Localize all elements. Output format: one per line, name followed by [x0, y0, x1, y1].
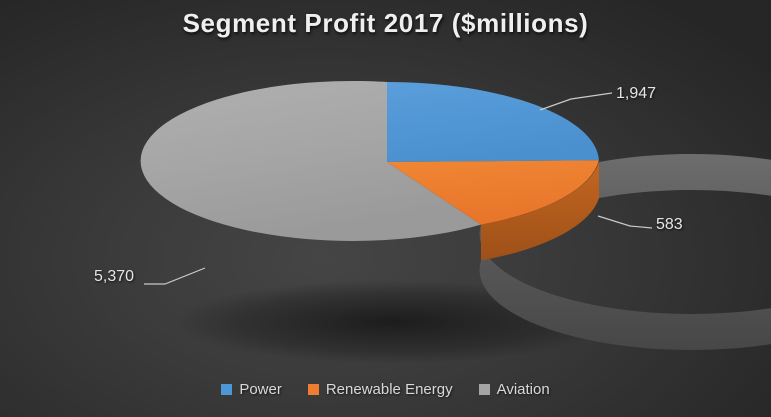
chart-legend: Power Renewable Energy Aviation	[0, 381, 771, 398]
aviation-data-label: 5,370	[94, 268, 134, 286]
legend-item-aviation[interactable]: Aviation	[479, 381, 550, 398]
power-slice-top	[387, 82, 599, 162]
legend-item-renewable-energy[interactable]: Renewable Energy	[308, 381, 453, 398]
renewable-leader-line	[598, 216, 652, 228]
legend-label-renewable-energy: Renewable Energy	[326, 381, 453, 398]
legend-item-power[interactable]: Power	[221, 381, 282, 398]
legend-swatch-aviation	[479, 384, 490, 395]
legend-swatch-power	[221, 384, 232, 395]
legend-label-power: Power	[239, 381, 282, 398]
power-data-label: 1,947	[616, 85, 656, 103]
legend-label-aviation: Aviation	[497, 381, 550, 398]
legend-swatch-renewable-energy	[308, 384, 319, 395]
power-leader-line	[540, 93, 612, 110]
pie-3d-graphic	[0, 0, 771, 417]
renewable-data-label: 583	[656, 216, 683, 234]
pie-chart-canvas: Segment Profit 2017 ($millions)	[0, 0, 771, 417]
aviation-leader-line	[144, 268, 205, 284]
